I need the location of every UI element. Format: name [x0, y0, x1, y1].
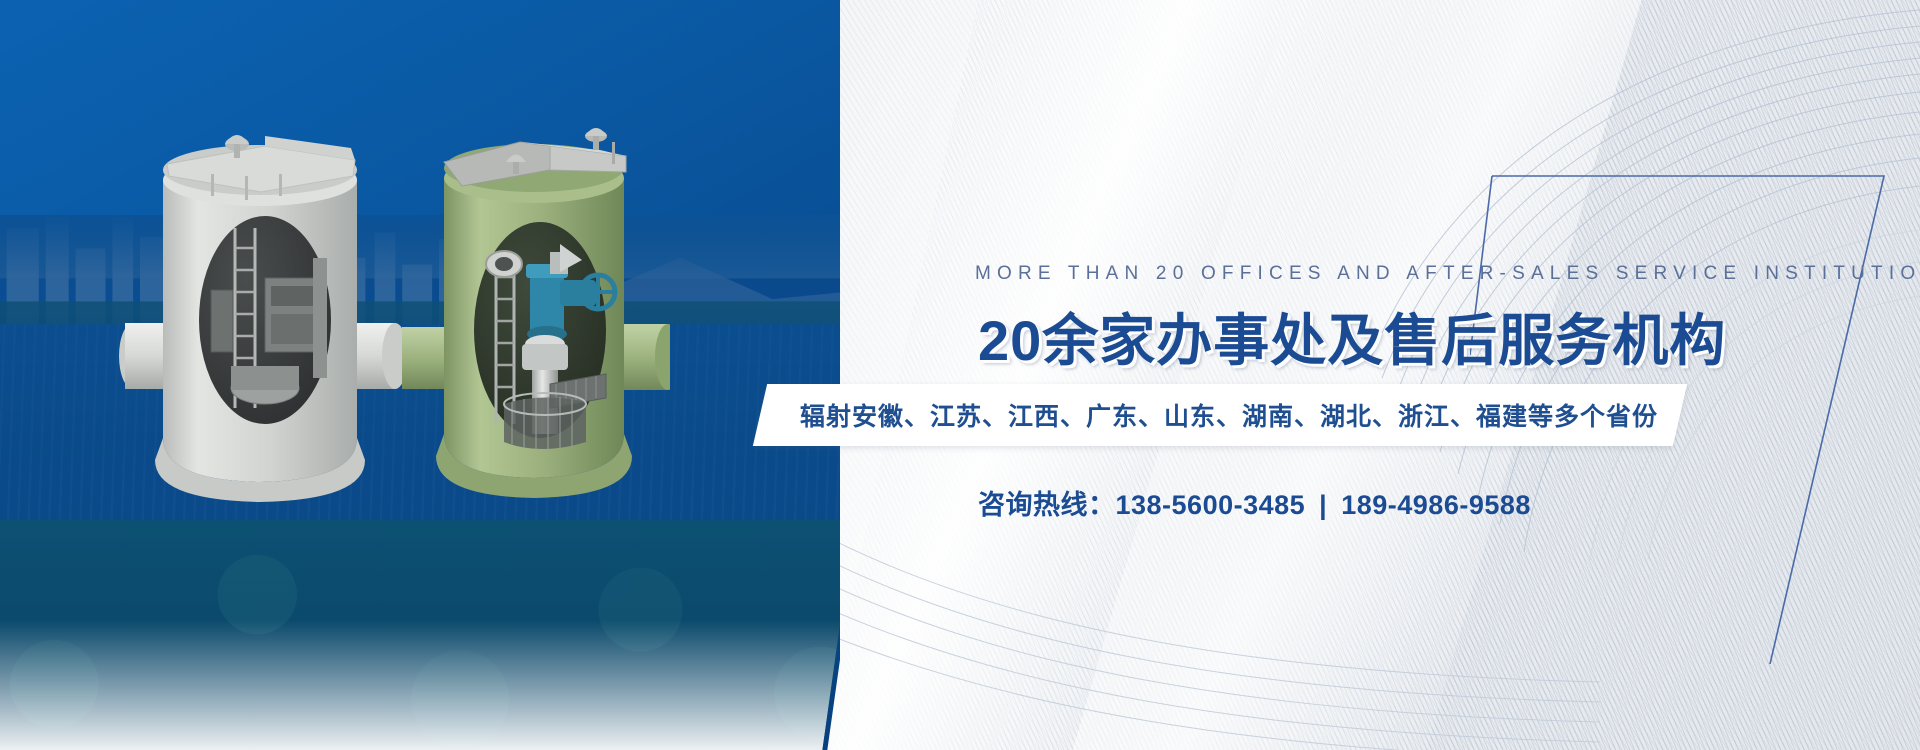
hotline-primary-number[interactable]: 138-5600-3485 [1116, 490, 1306, 520]
promo-banner: MORE THAN 20 OFFICES AND AFTER-SALES SER… [0, 0, 1920, 750]
green-pump-station-unit [400, 112, 670, 512]
gray-pump-station-unit [115, 108, 405, 508]
product-image-panel [0, 0, 840, 750]
photo-bottom-fade [0, 620, 840, 750]
hotline-block: 咨询热线：138-5600-3485|189-4986-9588 [978, 483, 1531, 522]
hotline-secondary-number[interactable]: 189-4986-9588 [1341, 490, 1531, 520]
eyebrow-tagline: MORE THAN 20 OFFICES AND AFTER-SALES SER… [975, 263, 1920, 285]
page-title: 20余家办事处及售后服务机构 [978, 296, 1726, 377]
hotline-separator: | [1305, 490, 1341, 520]
hotline-label: 咨询热线： [978, 490, 1116, 520]
subtitle-text: 辐射安徽、江苏、江西、广东、山东、湖南、湖北、浙江、福建等多个省份 [800, 384, 1680, 446]
